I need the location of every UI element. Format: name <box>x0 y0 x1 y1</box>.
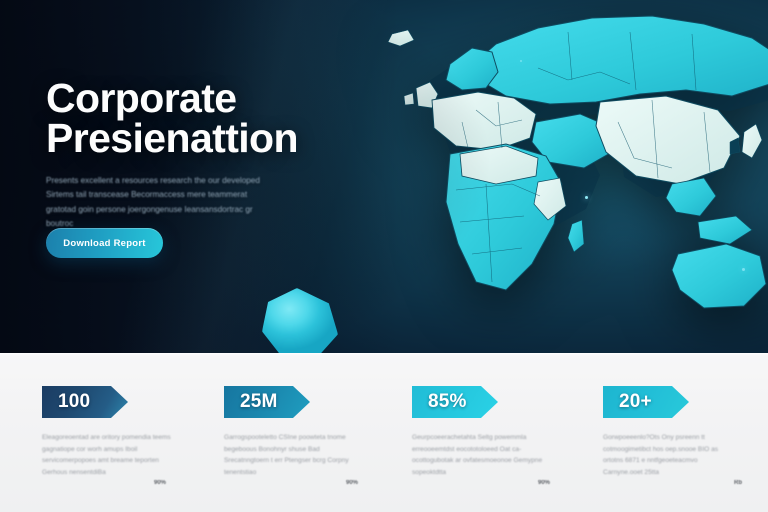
stat-description: Eleagoreoentad are oritory pomendia teem… <box>42 432 174 479</box>
stat-description: Garrogspooteletto CSIne poowteta tnome b… <box>224 432 356 479</box>
badge-tip-highlight <box>672 386 689 395</box>
badge-tip-highlight <box>111 386 128 395</box>
status-badge: 20+ <box>603 386 689 418</box>
stat-value: 100 <box>58 391 90 413</box>
stat-value: 20+ <box>619 391 652 413</box>
stat-description: Gorwpoeeenlo?Ots Ony psreenn tt cotmoogi… <box>603 432 735 479</box>
stat-item: 20+ Gorwpoeeenlo?Ots Ony psreenn tt cotm… <box>576 353 768 512</box>
map-marker <box>520 60 522 62</box>
status-badge: 100 <box>42 386 128 418</box>
hero-section: Corporate Presienattion Presents excelle… <box>0 0 768 353</box>
stat-item: 100 Eleagoreoentad are oritory pomendia … <box>0 353 192 512</box>
stat-value: 85% <box>428 391 467 413</box>
download-report-button[interactable]: Download Report <box>46 228 163 258</box>
stat-sub-label: 90% <box>154 480 166 486</box>
status-badge: 85% <box>412 386 498 418</box>
title-line-1: Corporate <box>46 78 376 118</box>
status-badge: 25M <box>224 386 310 418</box>
stat-item: 85% Geurpcoeerachetahta Seltg powemmla e… <box>384 353 576 512</box>
stat-item: 25M Garrogspooteletto CSIne poowteta tno… <box>192 353 384 512</box>
title-line-2: Presienattion <box>46 118 376 158</box>
badge-tip-highlight <box>481 386 498 395</box>
hero-subtitle: Presents excellent a resources research … <box>46 174 278 230</box>
stats-section: 100 Eleagoreoentad are oritory pomendia … <box>0 353 768 512</box>
page-title: Corporate Presienattion <box>46 78 376 158</box>
stat-description: Geurpcoeerachetahta Seltg powemmla erreo… <box>412 432 544 479</box>
presentation-slide: Corporate Presienattion Presents excelle… <box>0 0 768 512</box>
stat-sub-label: 90% <box>538 480 550 486</box>
stat-value: 25M <box>240 391 278 413</box>
badge-tip-highlight <box>293 386 310 395</box>
hero-copy: Corporate Presienattion Presents excelle… <box>46 78 376 231</box>
stat-sub-label: Rb <box>734 480 742 486</box>
map-marker <box>585 196 588 199</box>
stat-sub-label: 90% <box>346 480 358 486</box>
map-marker <box>742 268 745 271</box>
